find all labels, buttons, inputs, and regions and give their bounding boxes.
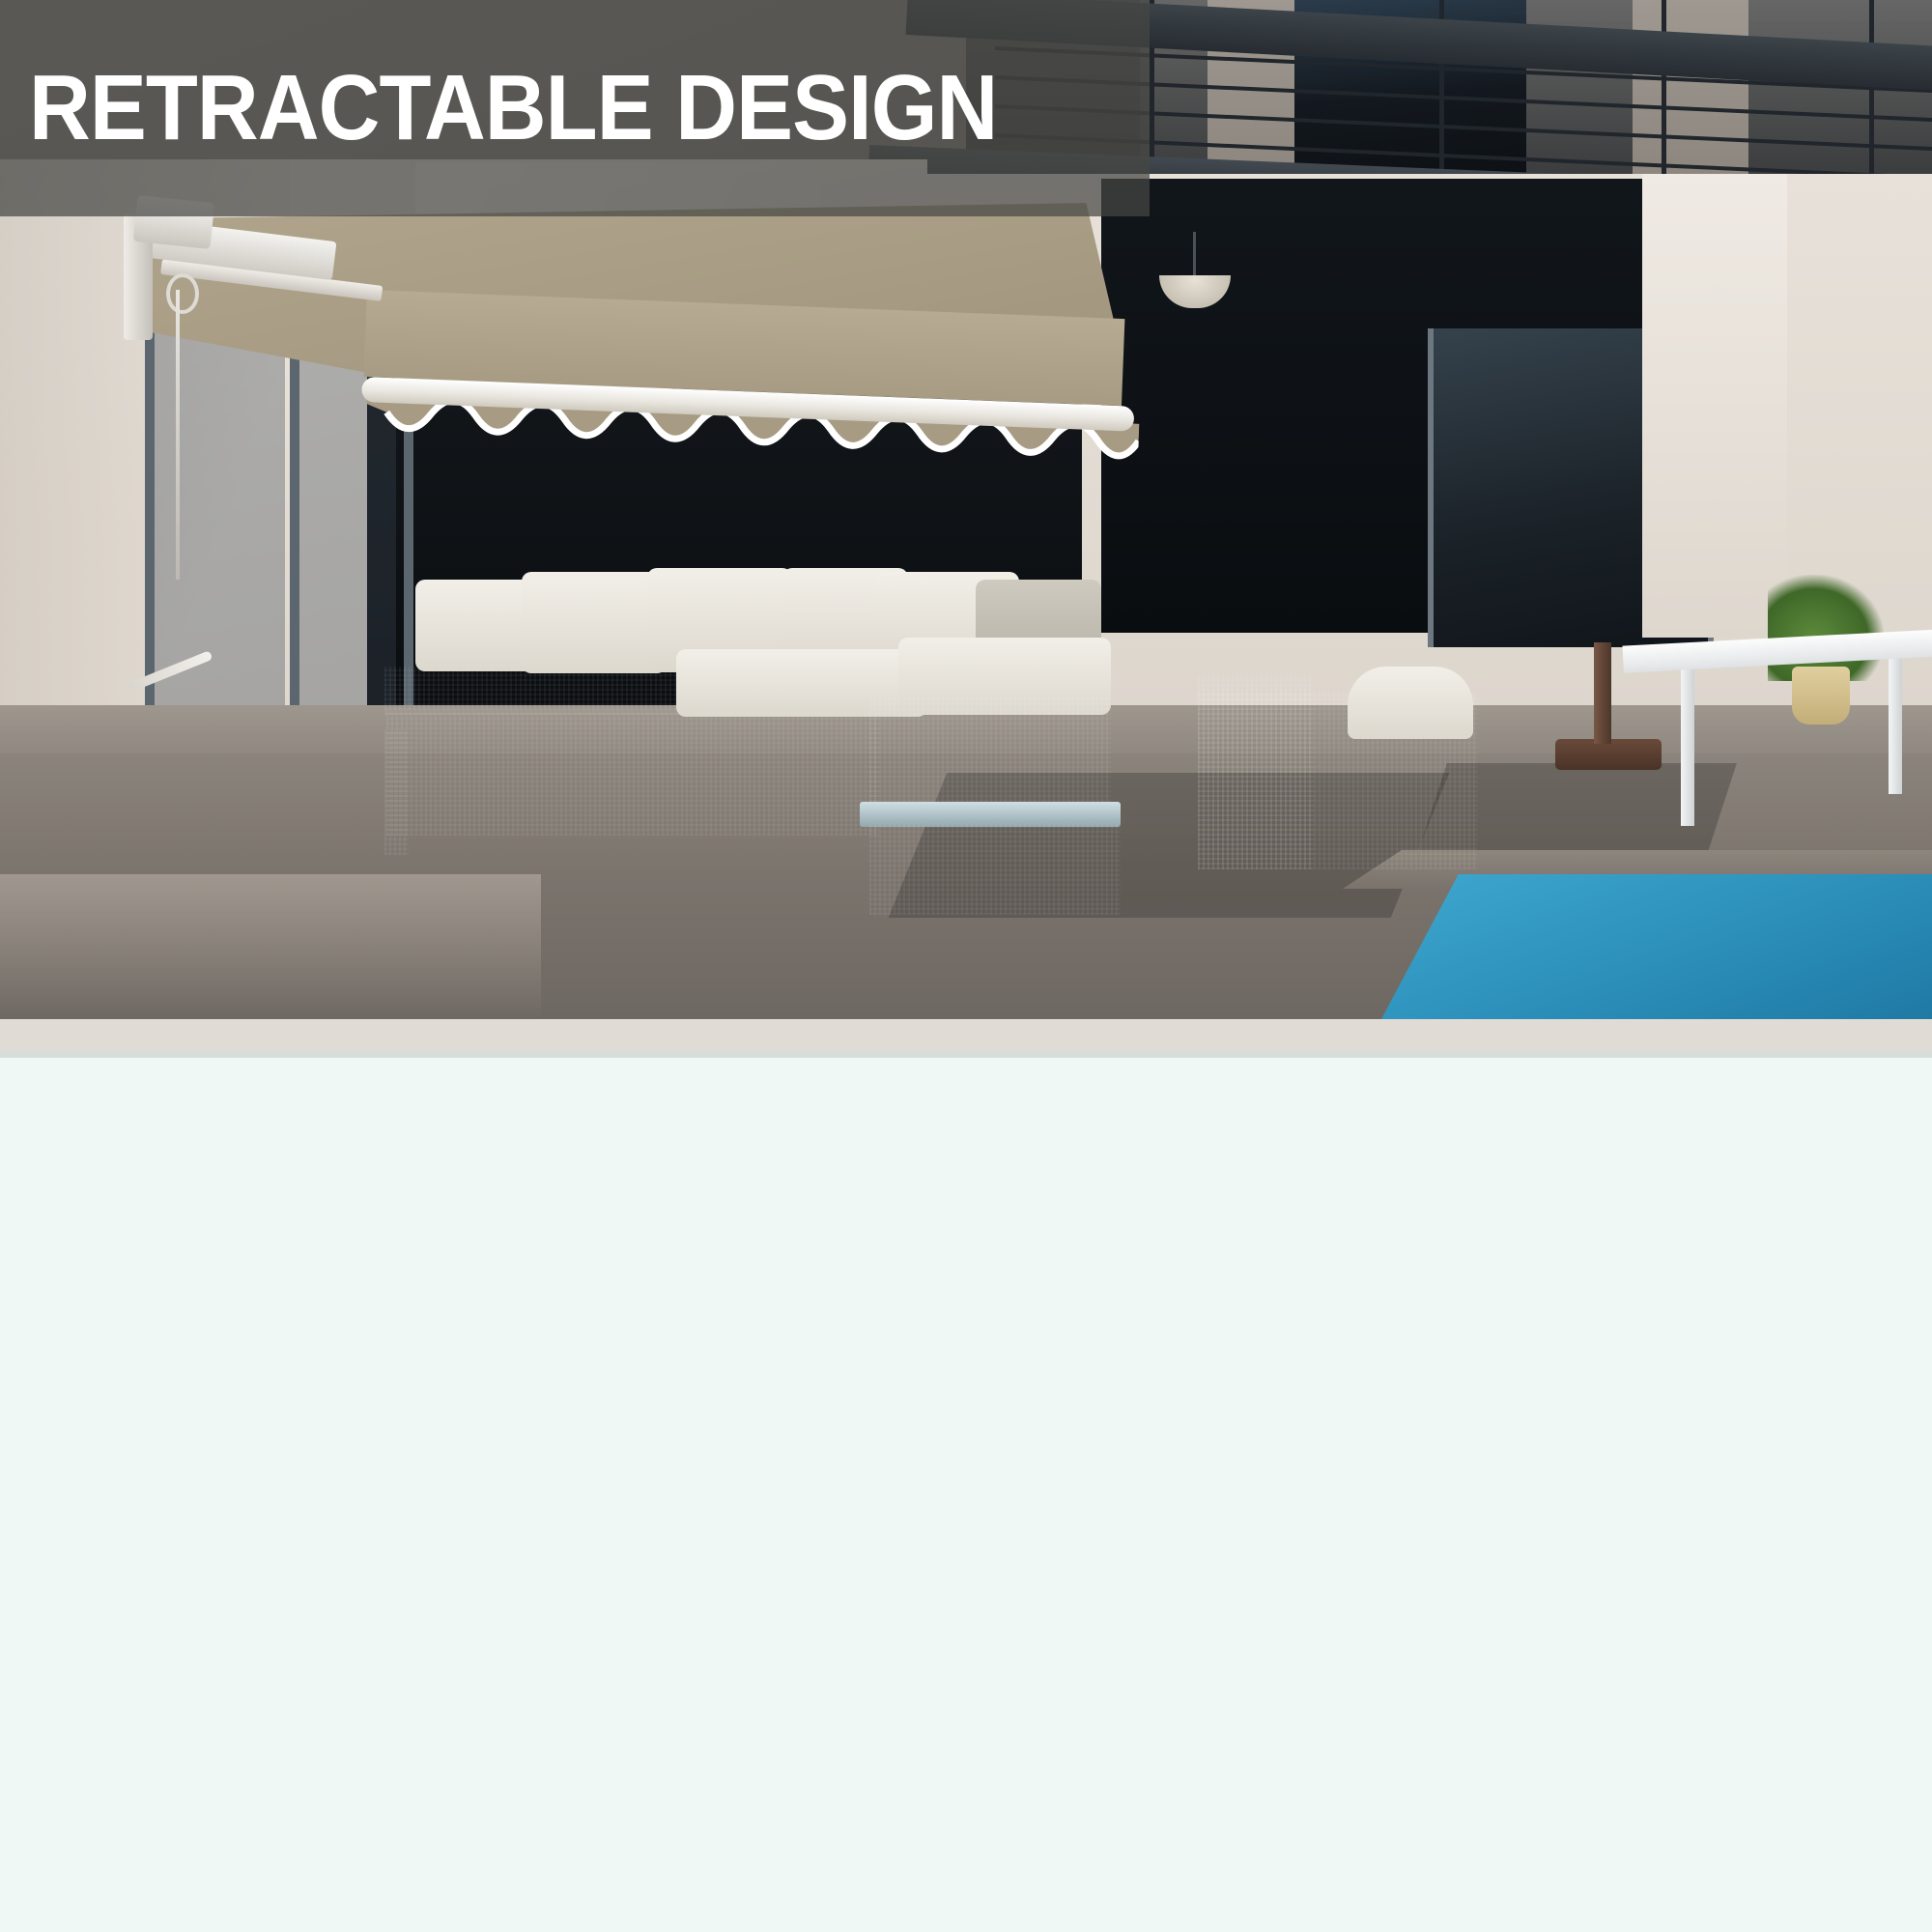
armchair-cushion — [1348, 667, 1473, 739]
product-feature-image: RETRACTABLE DESIGN — [0, 0, 1932, 1932]
section-separator-line — [0, 1050, 1932, 1058]
coffee-table-base — [869, 823, 1121, 915]
potted-plant-foliage — [1768, 575, 1884, 681]
railing-post — [1662, 0, 1666, 193]
upper-wall-panel — [1633, 0, 1748, 174]
crank-hook-icon — [166, 273, 199, 314]
door-mullion — [1428, 328, 1434, 647]
header-banner: RETRACTABLE DESIGN — [0, 0, 1150, 216]
sofa-cushion — [522, 572, 667, 673]
crank-rod-photo — [176, 290, 180, 580]
sunlit-floor-area — [0, 874, 541, 1019]
swimming-pool — [1381, 874, 1932, 1019]
pendant-cord — [1193, 232, 1196, 280]
armchair-arm — [1198, 676, 1314, 869]
rattan-sofa-base — [386, 710, 879, 836]
railing-post — [1869, 0, 1874, 203]
umbrella-pole — [1594, 642, 1611, 744]
diagram-panel: Easy to open the awning by the crank han… — [0, 1058, 1932, 1932]
wall-pillar — [1642, 174, 1787, 638]
table-leg — [1889, 649, 1902, 794]
section-separator — [0, 1019, 1932, 1052]
table-leg — [1681, 657, 1694, 826]
sofa-leg — [384, 729, 409, 855]
lifestyle-photo: RETRACTABLE DESIGN — [0, 0, 1932, 1019]
plant-pot — [1792, 667, 1850, 724]
page-title: RETRACTABLE DESIGN — [29, 55, 997, 161]
